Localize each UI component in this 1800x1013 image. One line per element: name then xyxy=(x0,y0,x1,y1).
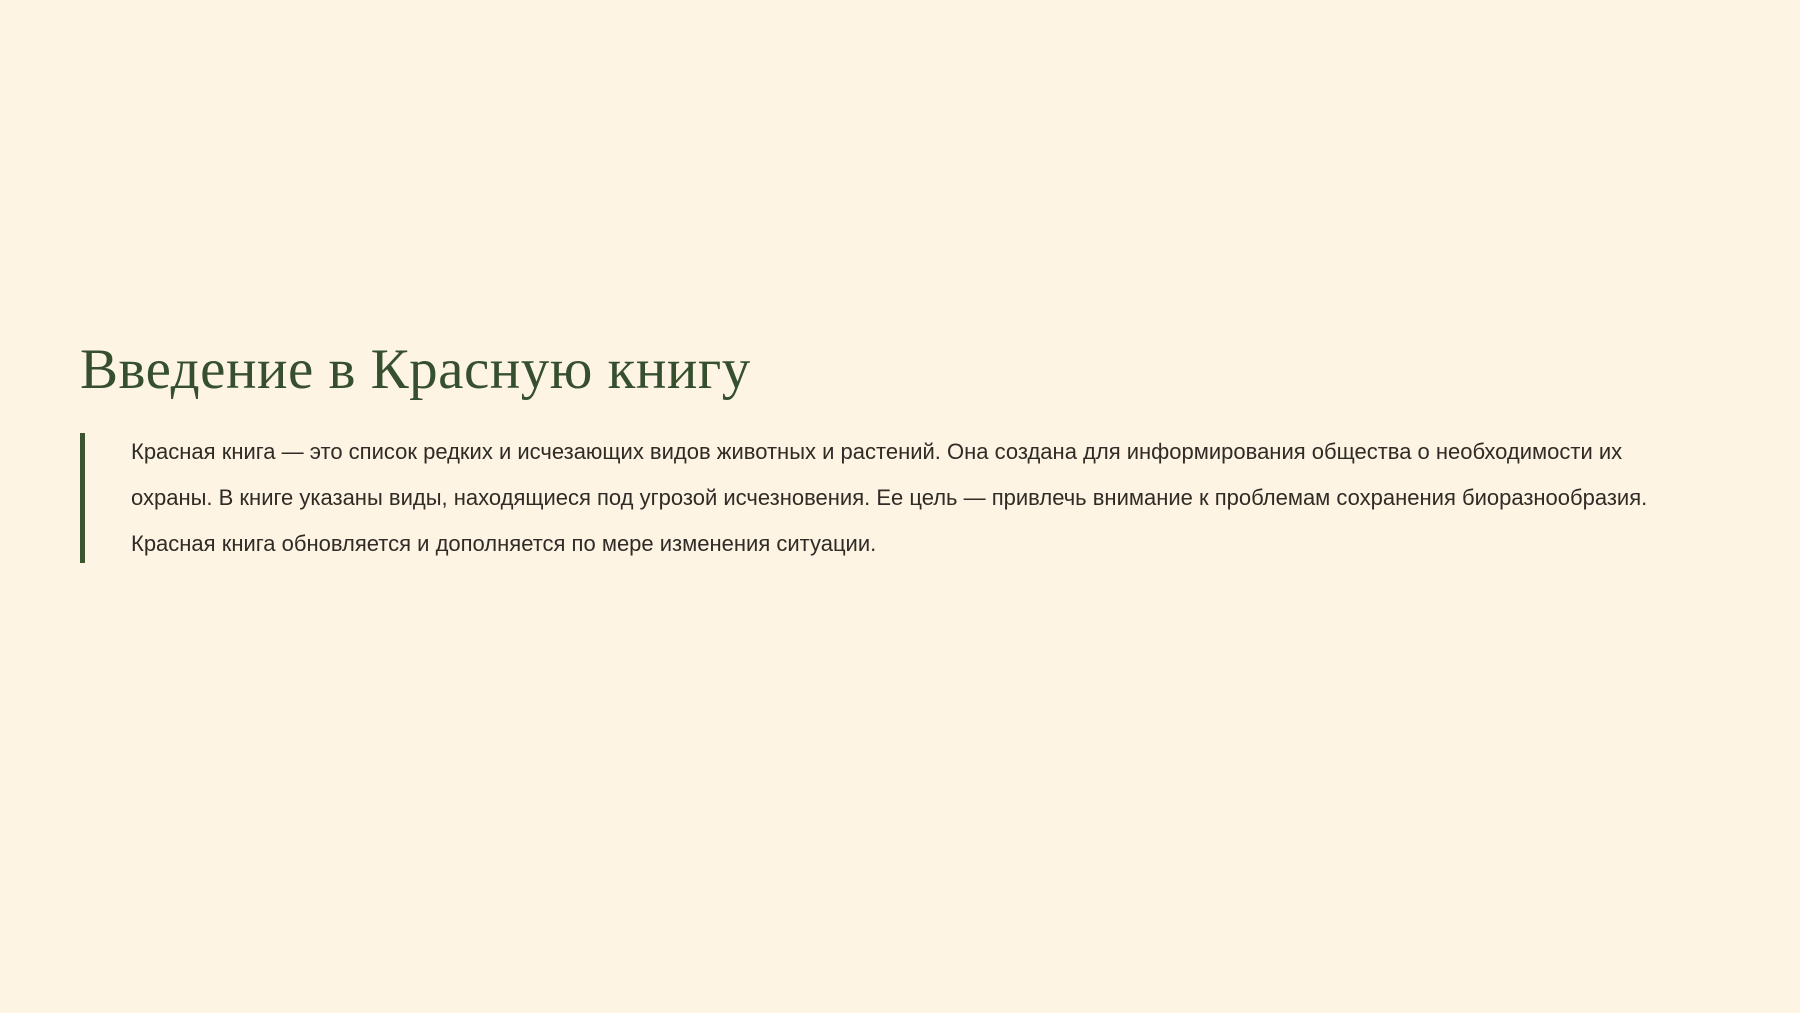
slide-canvas: Введение в Красную книгу Красная книга —… xyxy=(0,0,1800,1013)
content-block: Введение в Красную книгу Красная книга —… xyxy=(80,338,1720,567)
body-callout: Красная книга — это список редких и исче… xyxy=(80,429,1720,567)
body-paragraph: Красная книга — это список редких и исче… xyxy=(131,429,1671,567)
page-title: Введение в Красную книгу xyxy=(80,338,1720,402)
accent-bar xyxy=(80,433,85,563)
